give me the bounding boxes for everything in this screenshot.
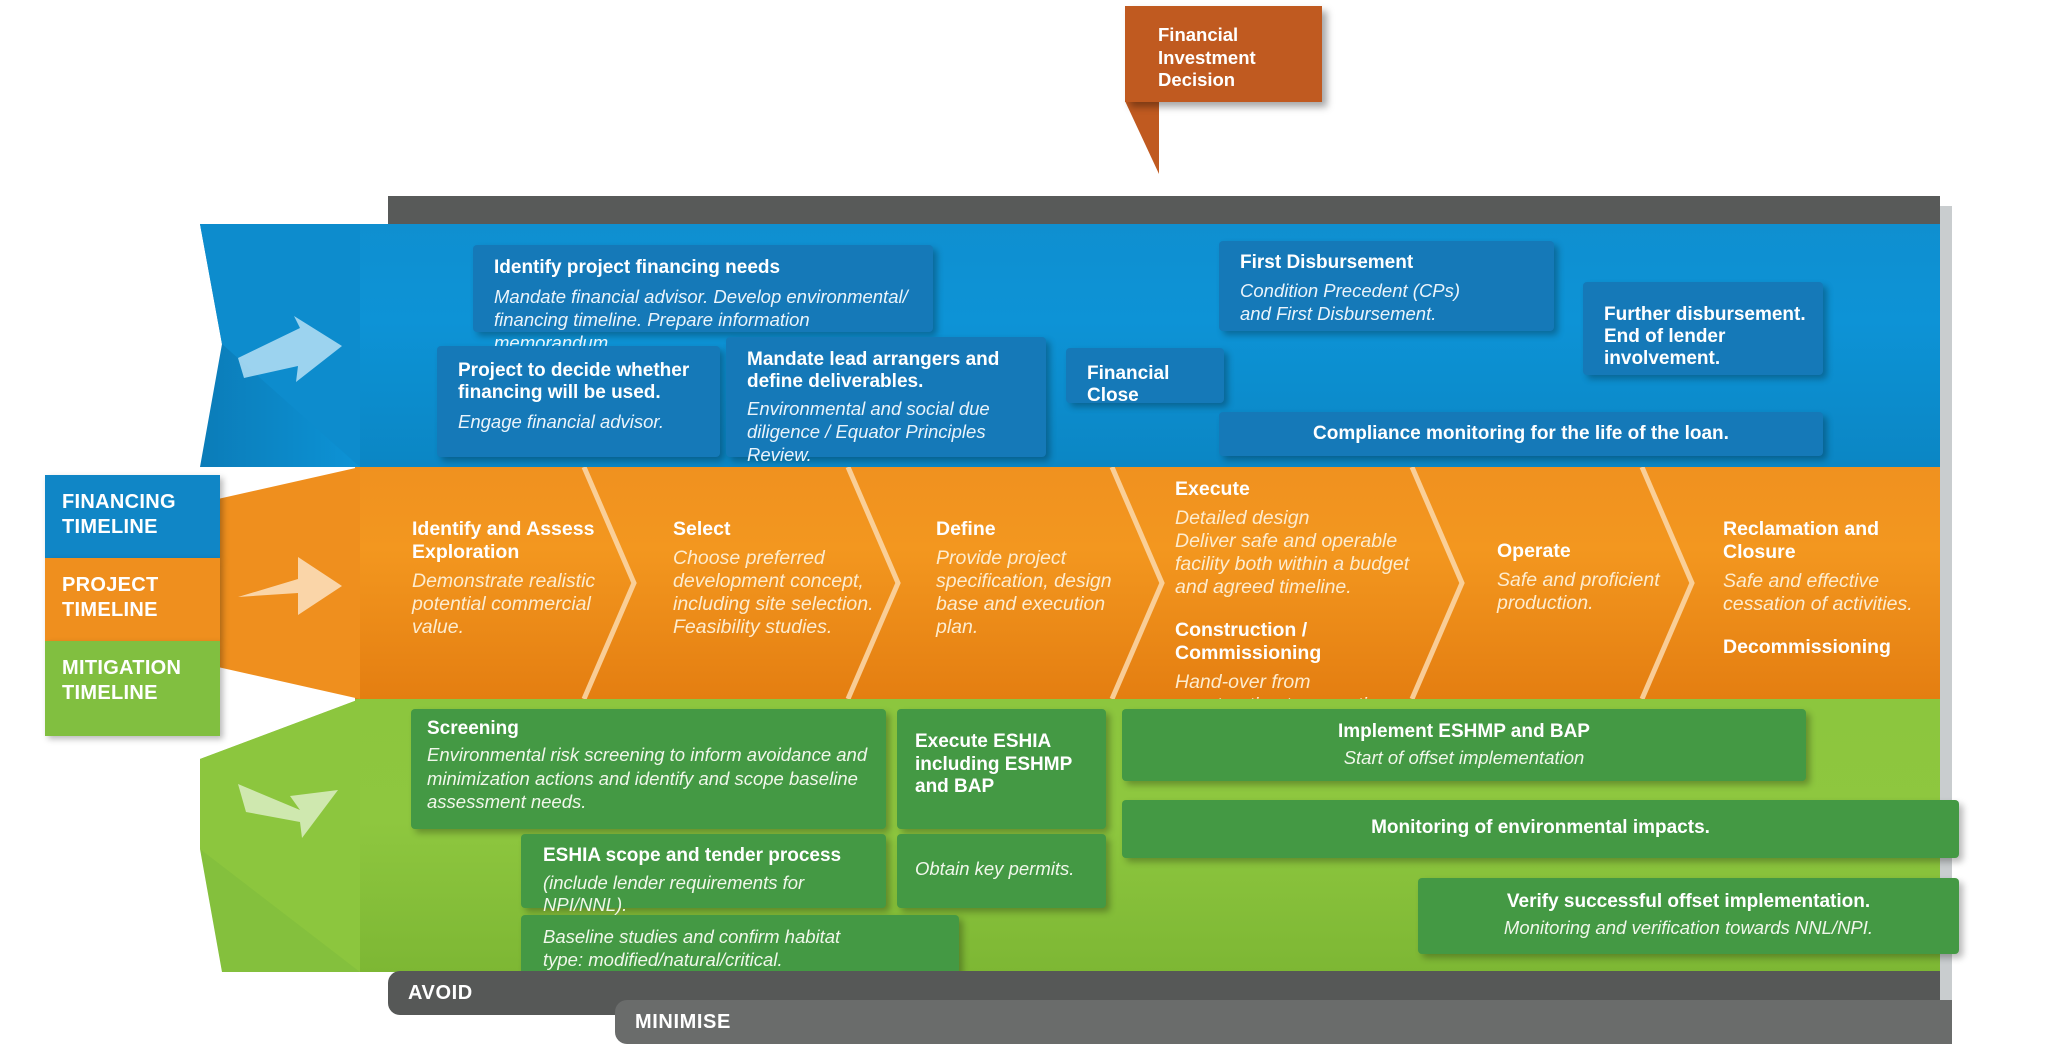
box-monitoring-environmental-impacts: Monitoring of environmental impacts. <box>1122 800 1959 858</box>
callout-label: Financial Investment Decision <box>1158 24 1256 92</box>
infographic-canvas: Financial Investment Decision Identify p… <box>0 0 2048 1024</box>
box-title: Financial Close <box>1087 363 1224 407</box>
financial-investment-decision-callout: Financial Investment Decision <box>1125 6 1322 102</box>
bottom-bar-label: AVOID <box>408 982 473 1005</box>
stage-operate: Operate Safe and proficient production. <box>1497 540 1682 615</box>
sidebar-tab-label: FINANCING TIMELINE <box>62 490 176 539</box>
stage-subtitle: Safe and proficient production. <box>1497 569 1682 615</box>
box-title: ESHIA scope and tender process <box>543 845 841 867</box>
box-first-disbursement: First Disbursement Condition Precedent (… <box>1219 241 1554 331</box>
sidebar-tab-financing-timeline[interactable]: FINANCING TIMELINE <box>45 475 220 558</box>
stage-title: Identify and Assess Exploration <box>412 518 612 564</box>
box-subtitle: Engage financial advisor. <box>458 410 664 433</box>
box-subtitle: Environmental and social due diligence /… <box>747 397 1046 466</box>
box-further-disbursement: Further disbursement. End of lender invo… <box>1583 282 1823 375</box>
stage-subtitle: Safe and effective cessation of activiti… <box>1723 570 1953 616</box>
stage-select: Select Choose preferred development conc… <box>673 518 888 639</box>
box-title: First Disbursement <box>1240 252 1413 274</box>
box-subtitle: Baseline studies and confirm habitat typ… <box>543 925 840 971</box>
box-title: Compliance monitoring for the life of th… <box>1219 423 1823 445</box>
box-title: Screening <box>427 718 519 740</box>
sidebar-tab-label: PROJECT TIMELINE <box>62 573 159 622</box>
stage-reclamation-and-closure: Reclamation and Closure Safe and effecti… <box>1723 518 1953 659</box>
sidebar-tab-mitigation-timeline[interactable]: MITIGATION TIMELINE <box>45 641 220 736</box>
box-title: Monitoring of environmental impacts. <box>1122 817 1959 839</box>
stage-subtitle: Detailed design Deliver safe and operabl… <box>1175 507 1420 599</box>
box-subtitle: Environmental risk screening to inform a… <box>427 743 867 814</box>
stage-define: Define Provide project specification, de… <box>936 518 1136 639</box>
box-title: Mandate lead arrangers and define delive… <box>747 349 999 393</box>
box-title: Implement ESHMP and BAP <box>1122 721 1806 743</box>
mitigation-arrow-icon <box>238 752 350 856</box>
box-implement-eshmp-and-bap: Implement ESHMP and BAP Start of offset … <box>1122 709 1806 781</box>
box-subtitle: Monitoring and verification towards NNL/… <box>1418 917 1959 939</box>
box-identify-project-financing-needs: Identify project financing needs Mandate… <box>473 245 933 332</box>
sidebar-tab-project-timeline[interactable]: PROJECT TIMELINE <box>45 558 220 641</box>
stage-subtitle: Provide project specification, design ba… <box>936 547 1136 639</box>
box-mandate-lead-arrangers: Mandate lead arrangers and define delive… <box>726 337 1046 457</box>
box-subtitle: Obtain key permits. <box>915 858 1074 880</box>
bottom-bar-label: MINIMISE <box>635 1011 731 1034</box>
box-baseline-studies: Baseline studies and confirm habitat typ… <box>521 915 959 977</box>
stage-title: Reclamation and Closure <box>1723 518 1953 564</box>
box-title: Verify successful offset implementation. <box>1418 891 1959 913</box>
box-project-to-decide-financing: Project to decide whether financing will… <box>437 346 720 457</box>
stage-subtitle: Choose preferred development concept, in… <box>673 547 888 639</box>
stage-title: Operate <box>1497 540 1682 563</box>
financing-arrow-icon <box>238 316 346 396</box>
box-subtitle: (include lender requirements for NPI/NNL… <box>543 872 886 916</box>
stage-subtitle: Demonstrate realistic potential commerci… <box>412 570 612 639</box>
box-eshia-scope-and-tender: ESHIA scope and tender process (include … <box>521 834 886 908</box>
stage-title: Define <box>936 518 1136 541</box>
box-screening: Screening Environmental risk screening t… <box>411 709 886 829</box>
box-title: Project to decide whether financing will… <box>458 360 689 404</box>
project-arrow-icon <box>238 555 346 617</box>
box-title: Execute ESHIA including ESHMP and BAP <box>915 731 1072 799</box>
box-obtain-key-permits: Obtain key permits. <box>897 834 1106 908</box>
box-financial-close: Financial Close <box>1066 348 1224 403</box>
stage-title: Execute <box>1175 478 1420 501</box>
sidebar-tab-label: MITIGATION TIMELINE <box>62 656 181 705</box>
box-title: Identify project financing needs <box>494 257 780 279</box>
box-verify-offset-implementation: Verify successful offset implementation.… <box>1418 878 1959 954</box>
stage-title-2: Construction / Commissioning <box>1175 619 1420 665</box>
stage-identify-and-assess: Identify and Assess Exploration Demonstr… <box>412 518 612 639</box>
callout-tail <box>1125 101 1185 174</box>
stage-title: Select <box>673 518 888 541</box>
box-execute-eshia: Execute ESHIA including ESHMP and BAP <box>897 709 1106 829</box>
box-subtitle: Condition Precedent (CPs) and First Disb… <box>1240 279 1460 325</box>
box-subtitle: Start of offset implementation <box>1122 747 1806 769</box>
box-title: Further disbursement. End of lender invo… <box>1604 304 1806 370</box>
stage-title-2: Decommissioning <box>1723 636 1953 659</box>
stage-execute: Execute Detailed design Deliver safe and… <box>1175 478 1420 717</box>
bottom-bar-minimise: MINIMISE <box>615 1000 1952 1044</box>
box-compliance-monitoring: Compliance monitoring for the life of th… <box>1219 412 1823 456</box>
